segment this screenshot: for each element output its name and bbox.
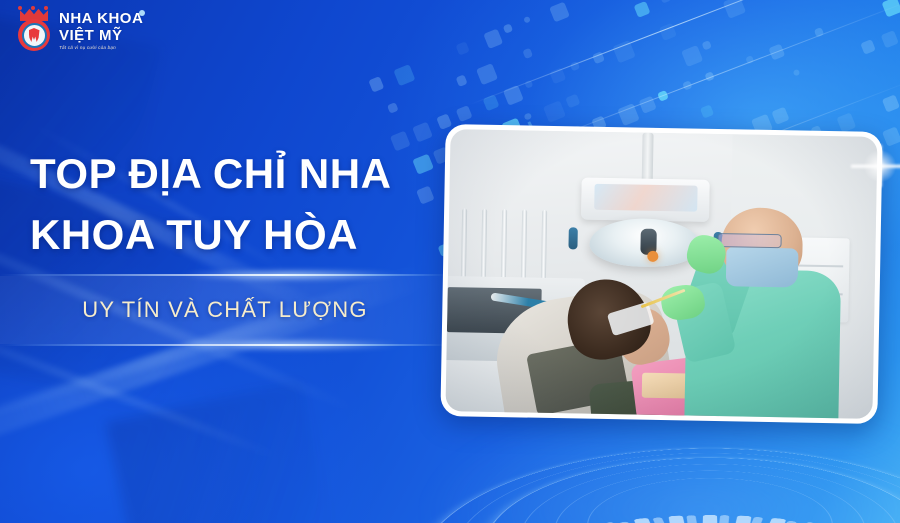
- crown-tooth-crest-icon: [14, 8, 54, 52]
- tech-square: [704, 71, 715, 82]
- tooth-icon: [29, 28, 40, 42]
- tech-square: [882, 0, 900, 18]
- hud-tick-small: [718, 515, 729, 523]
- tech-square: [639, 96, 657, 114]
- tech-square: [455, 74, 467, 86]
- tech-square: [456, 41, 470, 55]
- banner-root: NHA KHOA VIỆT MỸ Tất cả vì nụ cười của b…: [0, 0, 900, 523]
- crown-dot-icon: [31, 6, 35, 10]
- tech-square: [412, 122, 433, 143]
- tech-square: [702, 40, 712, 50]
- logo-badge-inner: [22, 23, 47, 48]
- tech-square: [592, 51, 605, 64]
- subtitle-band: UY TÍN VÀ CHẤT LƯỢNG: [0, 274, 450, 346]
- tech-square: [503, 85, 524, 106]
- tech-square: [394, 64, 416, 86]
- tech-square: [682, 80, 692, 90]
- tech-square: [476, 63, 497, 84]
- headline-line-2: KHOA TUY HÒA: [30, 204, 450, 265]
- crown-dot-icon: [44, 6, 48, 10]
- hud-tick-small: [652, 517, 667, 523]
- headline-block: TOP ĐỊA CHỈ NHA KHOA TUY HÒA: [30, 143, 450, 266]
- brand-logo[interactable]: NHA KHOA VIỆT MỸ Tất cả vì nụ cười của b…: [14, 8, 143, 52]
- hud-tick: [702, 515, 717, 523]
- tech-square: [768, 44, 785, 61]
- tech-square: [772, 107, 790, 125]
- tech-square: [523, 16, 531, 24]
- hud-ring: [306, 453, 900, 523]
- tech-square: [860, 39, 875, 54]
- tech-square: [745, 55, 753, 63]
- hud-radar-decoration: [94, 457, 900, 523]
- tech-square: [617, 103, 640, 126]
- hero-photo-frame: [440, 124, 882, 424]
- tech-square: [436, 113, 452, 129]
- hud-tick-small: [749, 517, 763, 523]
- tech-square: [524, 112, 532, 120]
- tech-square: [882, 94, 900, 112]
- tech-square: [658, 23, 676, 41]
- tech-square: [659, 0, 671, 4]
- tech-square: [524, 80, 533, 89]
- hero-photo: [445, 129, 877, 419]
- tech-square: [723, 0, 746, 19]
- background-shadow-shape: [106, 381, 335, 523]
- tech-square: [681, 45, 703, 67]
- tech-square: [565, 94, 580, 109]
- tech-square: [792, 69, 800, 77]
- hud-ring: [557, 478, 862, 523]
- tech-square: [814, 27, 824, 37]
- tech-square: [483, 28, 503, 48]
- tech-square: [612, 40, 635, 63]
- hud-tick-small: [686, 515, 697, 523]
- headline-line-1: TOP ĐỊA CHỈ NHA: [30, 143, 450, 204]
- hud-tick: [764, 518, 786, 523]
- tech-square: [700, 104, 715, 119]
- hud-ring: [374, 458, 900, 523]
- tech-square: [387, 102, 399, 114]
- tech-square: [368, 76, 384, 92]
- tech-square: [522, 48, 533, 59]
- hud-ring: [225, 448, 900, 523]
- hud-tick: [634, 518, 656, 523]
- tech-square: [881, 30, 899, 48]
- crown-dot-icon: [18, 6, 22, 10]
- tech-square: [549, 68, 566, 85]
- hud-tick: [733, 516, 751, 523]
- hud-ring: [505, 471, 900, 523]
- tech-square: [836, 112, 856, 132]
- tech-square: [569, 61, 580, 72]
- tech-square: [657, 90, 669, 102]
- logo-accent-dot-icon: [139, 10, 145, 16]
- hud-tick: [669, 516, 687, 523]
- tech-square: [482, 94, 499, 111]
- tech-square: [503, 23, 514, 34]
- tech-square: [543, 101, 566, 124]
- logo-line-2: VIỆT MỸ: [59, 28, 143, 43]
- photo-vignette: [445, 129, 877, 419]
- logo-badge: [18, 19, 50, 51]
- tech-square: [549, 2, 570, 23]
- tech-square: [882, 126, 900, 146]
- tech-square: [633, 1, 650, 18]
- logo-wordmark: NHA KHOA VIỆT MỸ Tất cả vì nụ cười của b…: [59, 9, 143, 51]
- logo-line-1: NHA KHOA: [59, 11, 143, 26]
- subtitle-text: UY TÍN VÀ CHẤT LƯỢNG: [0, 274, 450, 346]
- hud-ring: [445, 464, 900, 523]
- tech-square: [456, 105, 473, 122]
- logo-tagline: Tất cả vì nụ cười của bạn: [59, 46, 143, 51]
- diagonal-accent-line: [470, 0, 900, 105]
